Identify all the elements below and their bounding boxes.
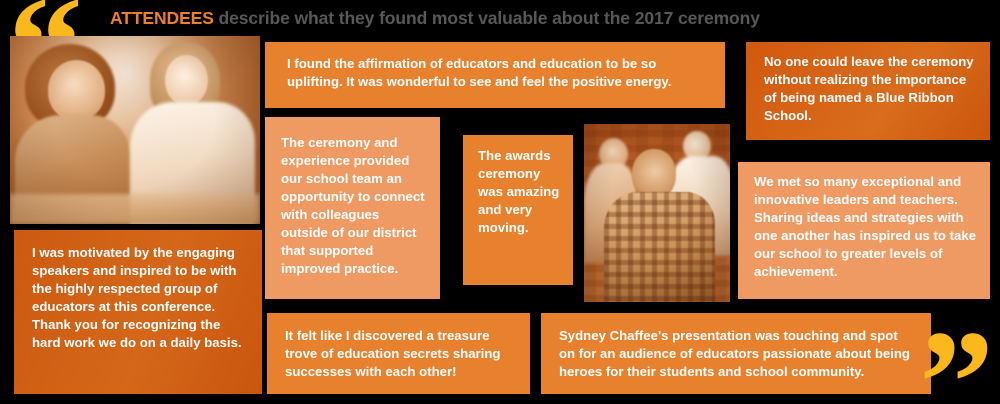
photo-educators-smiling [10,36,260,224]
close-quote-icon: ” [919,308,990,404]
header-bar: ATTENDEES describe what they found most … [0,0,1000,36]
infographic-canvas: ATTENDEES describe what they found most … [0,0,1000,404]
quote-text: Sydney Chaffee's presentation was touchi… [559,327,917,381]
photo-vignette [584,124,730,302]
quote-text: We met so many exceptional and innovativ… [754,173,978,281]
quote-card-engaging-speakers: I was motivated by the engaging speakers… [14,230,262,394]
quote-card-treasure-trove: It felt like I discovered a treasure tro… [267,313,530,394]
quote-card-sydney-chaffee: Sydney Chaffee's presentation was touchi… [541,313,931,394]
quote-card-connect-colleagues: The ceremony and experience provided our… [265,117,440,299]
photo-attendee-audience [584,124,730,302]
quote-card-awards-ceremony: The awards ceremony was amazing and very… [463,135,573,285]
photo-vignette [10,36,260,224]
quote-text: The awards ceremony was amazing and very… [478,147,563,237]
quote-card-exceptional-leaders: We met so many exceptional and innovativ… [738,162,990,299]
quote-text: The ceremony and experience provided our… [281,134,428,278]
quote-text: No one could leave the ceremony without … [764,53,976,125]
quote-text: I found the affirmation of educators and… [287,55,707,91]
page-title-highlight: ATTENDEES [110,8,214,28]
page-title-rest: describe what they found most valuable a… [214,8,760,28]
quote-text: It felt like I discovered a treasure tro… [285,327,518,381]
quote-text: I was motivated by the engaging speakers… [32,244,250,352]
quote-card-blue-ribbon: No one could leave the ceremony without … [746,42,990,140]
page-title: ATTENDEES describe what they found most … [110,8,760,29]
quote-card-affirmation: I found the affirmation of educators and… [265,42,725,108]
